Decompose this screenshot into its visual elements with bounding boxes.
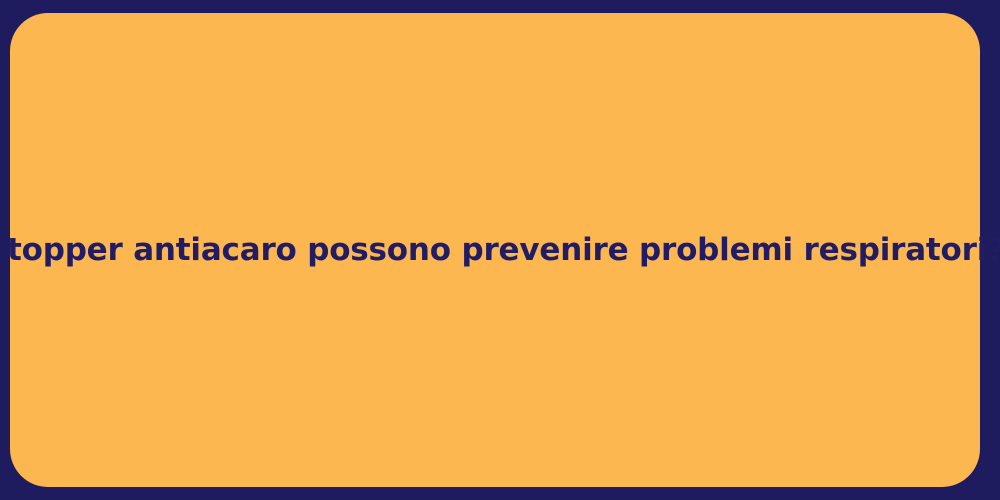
page-frame: I topper antiacaro possono prevenire pro… — [0, 0, 1000, 500]
question-heading: I topper antiacaro possono prevenire pro… — [0, 231, 1000, 270]
question-card: I topper antiacaro possono prevenire pro… — [10, 13, 980, 487]
